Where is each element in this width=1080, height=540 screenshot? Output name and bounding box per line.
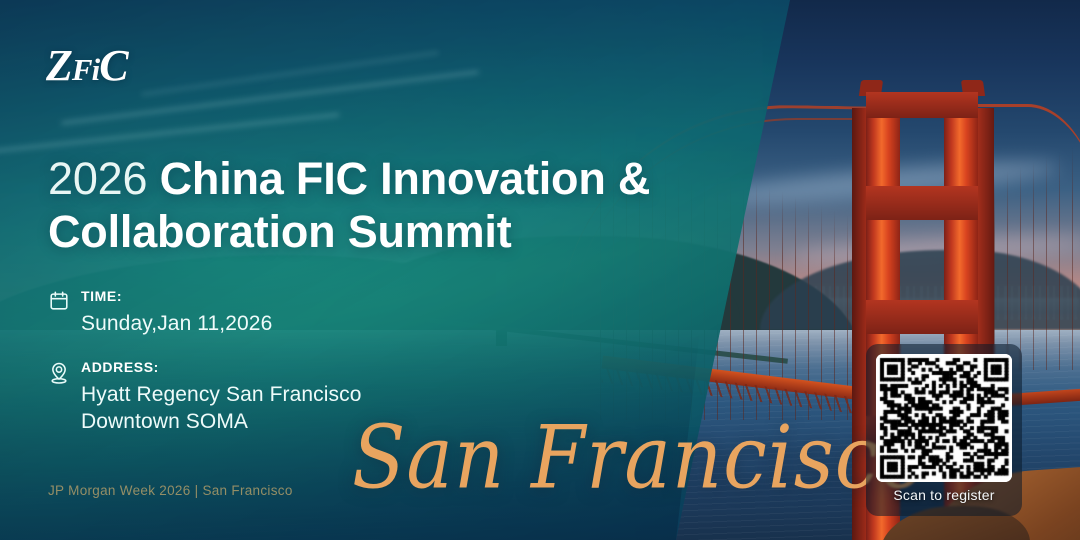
time-row: TIME: Sunday,Jan 11,2026 xyxy=(48,288,518,337)
address-line-1: Hyatt Regency San Francisco xyxy=(81,382,362,409)
logo-letter-c: C xyxy=(99,41,127,90)
logo-letter-f: F xyxy=(72,52,92,87)
event-year: 2026 xyxy=(48,153,147,204)
qr-code-canvas xyxy=(876,354,1012,482)
address-texts: ADDRESS: Hyatt Regency San Francisco Dow… xyxy=(81,359,362,435)
zfic-logo[interactable]: ZFiC xyxy=(46,44,128,88)
time-value: Sunday,Jan 11,2026 xyxy=(81,311,272,338)
qr-caption: Scan to register xyxy=(876,487,1012,503)
san-francisco-script-wordmark: San Francisco xyxy=(352,415,927,502)
qr-code-icon[interactable] xyxy=(876,354,1012,482)
time-texts: TIME: Sunday,Jan 11,2026 xyxy=(81,288,272,337)
address-label: ADDRESS: xyxy=(81,359,362,377)
address-line-2: Downtown SOMA xyxy=(81,409,362,436)
calendar-icon xyxy=(48,290,72,312)
event-title: 2026 China FIC Innovation & Collaboratio… xyxy=(48,152,748,258)
map-pin-icon xyxy=(48,361,72,385)
event-banner: ZFiC 2026 China FIC Innovation & Collabo… xyxy=(0,0,1080,540)
time-label: TIME: xyxy=(81,288,272,306)
qr-register-panel[interactable]: Scan to register xyxy=(866,344,1022,516)
banner-content: ZFiC 2026 China FIC Innovation & Collabo… xyxy=(0,0,1080,540)
logo-letter-z: Z xyxy=(46,41,72,90)
footnote-text: JP Morgan Week 2026 | San Francisco xyxy=(48,483,293,498)
